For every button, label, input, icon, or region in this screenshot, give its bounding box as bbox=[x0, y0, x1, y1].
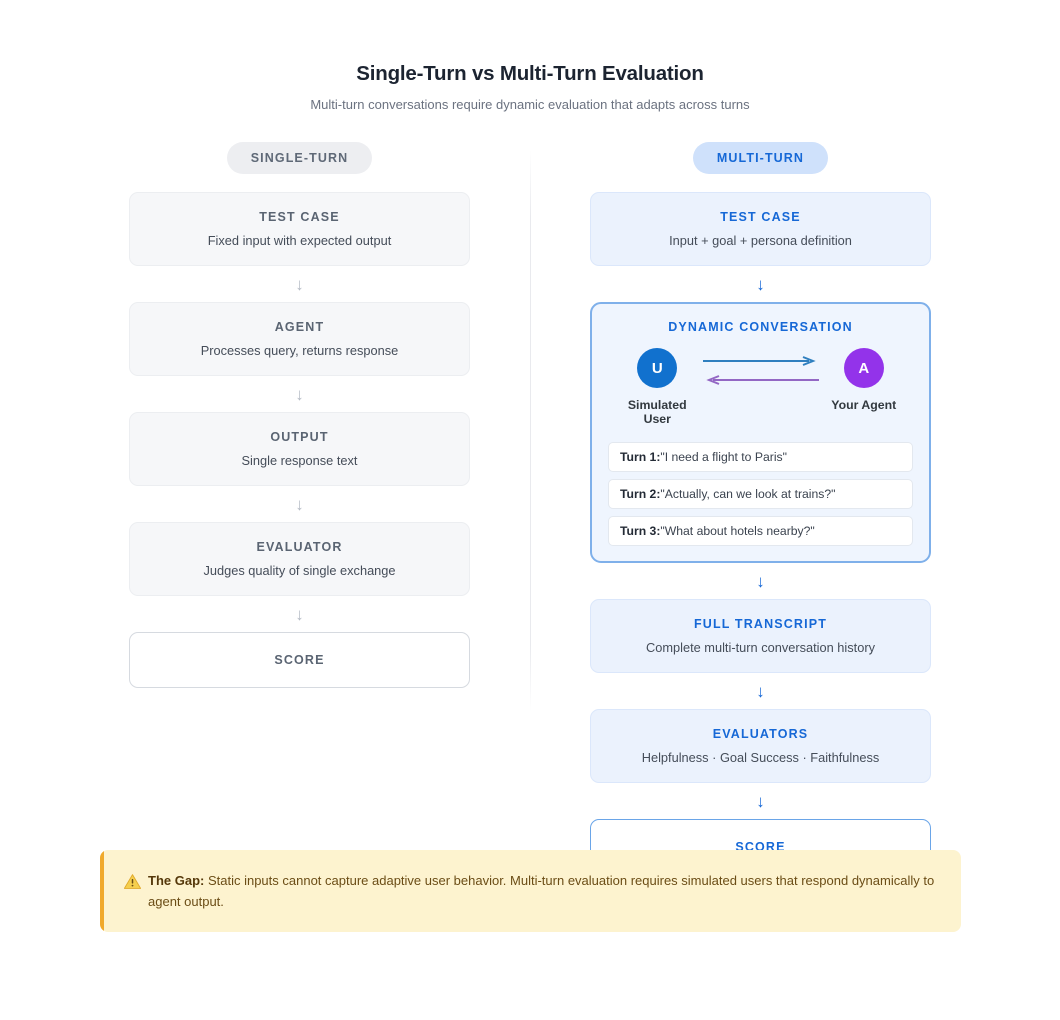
conversation-actors: U Simulated User A bbox=[608, 348, 913, 426]
card-description: Single response text bbox=[146, 453, 453, 468]
gap-callout: The Gap: Static inputs cannot capture ad… bbox=[100, 850, 961, 932]
card-description: Input + goal + persona definition bbox=[607, 233, 914, 248]
single-turn-step-agent: AGENT Processes query, returns response bbox=[129, 302, 470, 376]
multi-turn-step-full-transcript: FULL TRANSCRIPT Complete multi-turn conv… bbox=[590, 599, 931, 673]
multi-turn-step-evaluators: EVALUATORS Helpfulness · Goal Success · … bbox=[590, 709, 931, 783]
multi-turn-pill: MULTI-TURN bbox=[693, 142, 828, 174]
card-title: FULL TRANSCRIPT bbox=[607, 617, 914, 631]
exchange-arrows bbox=[701, 348, 821, 385]
arrow-right-icon bbox=[701, 356, 821, 366]
card-title: EVALUATOR bbox=[146, 540, 453, 554]
page-title: Single-Turn vs Multi-Turn Evaluation bbox=[0, 62, 1060, 86]
arrow-down-icon: ↓ bbox=[129, 376, 470, 412]
avatar: U bbox=[637, 348, 677, 388]
single-turn-step-output: OUTPUT Single response text bbox=[129, 412, 470, 486]
turn-list: Turn 1:"I need a flight to Paris" Turn 2… bbox=[608, 442, 913, 546]
avatar: A bbox=[844, 348, 884, 388]
header: Single-Turn vs Multi-Turn Evaluation Mul… bbox=[0, 0, 1060, 112]
turn-text: "What about hotels nearby?" bbox=[660, 524, 814, 538]
comparison-columns: SINGLE-TURN TEST CASE Fixed input with e… bbox=[0, 142, 1060, 875]
turn-text: "I need a flight to Paris" bbox=[660, 450, 787, 464]
column-divider bbox=[530, 150, 531, 712]
arrow-down-icon: ↓ bbox=[129, 266, 470, 302]
actor-label: Simulated User bbox=[614, 398, 701, 426]
single-turn-score-card: SCORE bbox=[129, 632, 470, 688]
list-item: Turn 3:"What about hotels nearby?" bbox=[608, 516, 913, 546]
card-title: TEST CASE bbox=[607, 210, 914, 224]
card-title: TEST CASE bbox=[146, 210, 453, 224]
card-title: EVALUATORS bbox=[607, 727, 914, 741]
page-subtitle: Multi-turn conversations require dynamic… bbox=[0, 97, 1060, 112]
turn-label: Turn 1: bbox=[620, 450, 660, 464]
dynamic-conversation-title: DYNAMIC CONVERSATION bbox=[608, 320, 913, 334]
actor-your-agent: A Your Agent bbox=[821, 348, 908, 412]
turn-label: Turn 3: bbox=[620, 524, 660, 538]
arrow-down-icon: ↓ bbox=[590, 783, 931, 819]
arrow-down-icon: ↓ bbox=[129, 596, 470, 632]
single-turn-pill-wrap: SINGLE-TURN bbox=[129, 142, 470, 174]
arrow-down-icon: ↓ bbox=[590, 563, 931, 599]
card-description: Fixed input with expected output bbox=[146, 233, 453, 248]
list-item: Turn 2:"Actually, can we look at trains?… bbox=[608, 479, 913, 509]
multi-turn-step-test-case: TEST CASE Input + goal + persona definit… bbox=[590, 192, 931, 266]
multi-turn-pill-wrap: MULTI-TURN bbox=[590, 142, 931, 174]
multi-turn-column: MULTI-TURN TEST CASE Input + goal + pers… bbox=[590, 142, 931, 875]
dynamic-conversation-box: DYNAMIC CONVERSATION U Simulated User bbox=[590, 302, 931, 563]
card-title: OUTPUT bbox=[146, 430, 453, 444]
callout-text: The Gap: Static inputs cannot capture ad… bbox=[148, 870, 937, 912]
turn-text: "Actually, can we look at trains?" bbox=[660, 487, 835, 501]
card-title: SCORE bbox=[146, 653, 453, 667]
warning-triangle-icon bbox=[124, 874, 141, 889]
actor-label: Your Agent bbox=[821, 398, 908, 412]
diagram-page: Single-Turn vs Multi-Turn Evaluation Mul… bbox=[0, 0, 1060, 1020]
single-turn-pill: SINGLE-TURN bbox=[227, 142, 373, 174]
card-title: AGENT bbox=[146, 320, 453, 334]
single-turn-column: SINGLE-TURN TEST CASE Fixed input with e… bbox=[129, 142, 470, 875]
card-description: Complete multi-turn conversation history bbox=[607, 640, 914, 655]
callout-wrap: The Gap: Static inputs cannot capture ad… bbox=[100, 850, 961, 932]
arrow-down-icon: ↓ bbox=[129, 486, 470, 522]
list-item: Turn 1:"I need a flight to Paris" bbox=[608, 442, 913, 472]
card-description: Processes query, returns response bbox=[146, 343, 453, 358]
callout-body: Static inputs cannot capture adaptive us… bbox=[148, 873, 934, 909]
callout-lead: The Gap: bbox=[148, 873, 204, 888]
single-turn-step-evaluator: EVALUATOR Judges quality of single excha… bbox=[129, 522, 470, 596]
card-description: Judges quality of single exchange bbox=[146, 563, 453, 578]
turn-label: Turn 2: bbox=[620, 487, 660, 501]
arrow-down-icon: ↓ bbox=[590, 673, 931, 709]
card-description: Helpfulness · Goal Success · Faithfulnes… bbox=[607, 750, 914, 765]
arrow-left-icon bbox=[701, 375, 821, 385]
arrow-down-icon: ↓ bbox=[590, 266, 931, 302]
single-turn-step-test-case: TEST CASE Fixed input with expected outp… bbox=[129, 192, 470, 266]
actor-simulated-user: U Simulated User bbox=[614, 348, 701, 426]
